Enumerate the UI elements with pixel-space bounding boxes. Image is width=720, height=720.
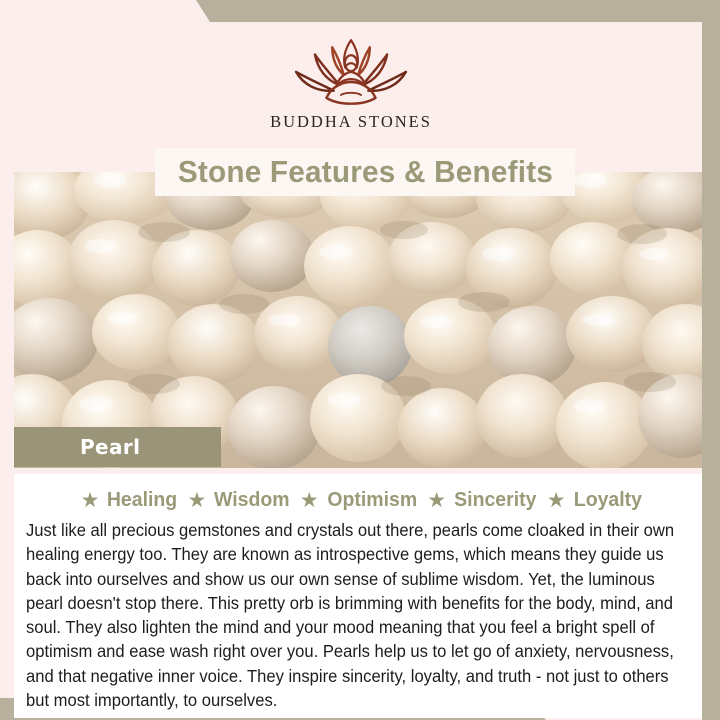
benefit-item-optimism: ★ Optimism xyxy=(292,488,419,512)
brand-name: BUDDHA STONES xyxy=(270,112,432,132)
stone-name-banner: Pearl xyxy=(14,427,221,467)
benefit-label: Wisdom xyxy=(214,488,290,512)
benefit-item-wisdom: ★ Wisdom xyxy=(180,488,292,512)
benefit-label: Sincerity xyxy=(454,488,536,512)
stone-description: Just like all precious gemstones and cry… xyxy=(26,518,686,712)
star-icon: ★ xyxy=(188,490,207,511)
benefits-list: ★ Healing ★ Wisdom ★ Optimism ★ Sincerit… xyxy=(26,488,690,512)
top-frame-bar xyxy=(0,0,720,22)
page-title: Stone Features & Benefits xyxy=(177,154,552,190)
lotus-meditation-icon xyxy=(278,30,424,108)
content-panel: ★ Healing ★ Wisdom ★ Optimism ★ Sincerit… xyxy=(14,474,702,718)
right-frame-bar xyxy=(702,0,720,720)
section-title-banner: Stone Features & Benefits xyxy=(155,148,575,196)
stone-feature-card: BUDDHA STONES Stone Features & Benefits xyxy=(0,0,720,720)
pearl-photo xyxy=(14,172,702,468)
page-body: BUDDHA STONES Stone Features & Benefits xyxy=(0,22,702,698)
benefit-label: Healing xyxy=(107,488,177,512)
benefit-item-loyalty: ★ Loyalty xyxy=(539,488,644,512)
benefit-label: Loyalty xyxy=(573,488,641,512)
benefit-item-sincerity: ★ Sincerity xyxy=(419,488,538,512)
star-icon: ★ xyxy=(427,490,446,511)
star-icon: ★ xyxy=(547,490,566,511)
star-icon: ★ xyxy=(300,490,319,511)
stone-name: Pearl xyxy=(80,435,140,459)
benefit-item-healing: ★ Healing xyxy=(73,488,180,512)
star-icon: ★ xyxy=(81,490,100,511)
benefit-label: Optimism xyxy=(327,488,417,512)
